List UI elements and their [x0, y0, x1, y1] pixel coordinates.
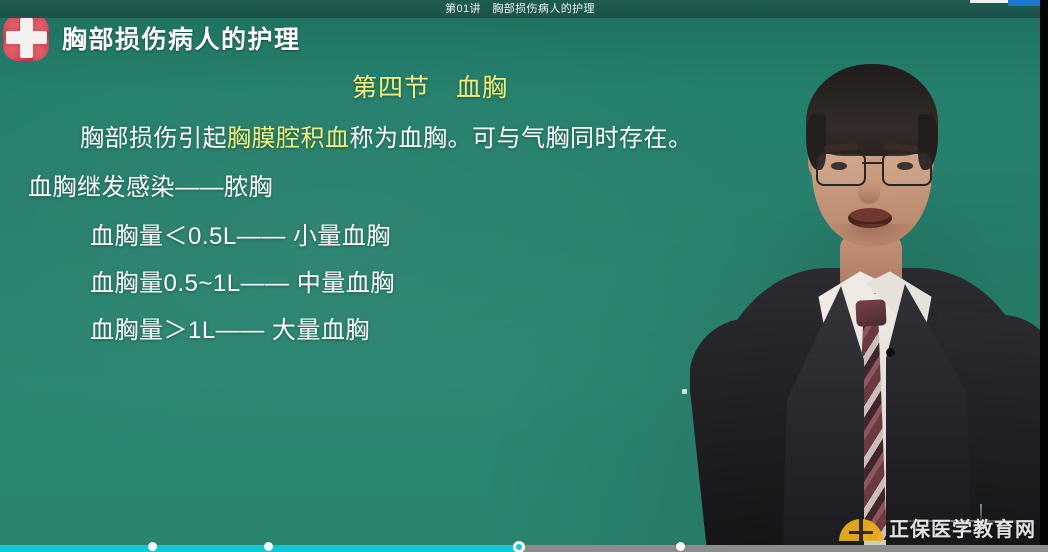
slide-content: 第四节 血胸 胸部损伤引起胸膜腔积血称为血胸。可与气胸同时存在。 血胸继发感染—…: [0, 68, 800, 357]
slide-section-title: 第四节 血胸: [0, 68, 800, 104]
slide-line-2: 血胸继发感染——脓胸: [0, 167, 800, 202]
lapel-mic-icon: [886, 348, 895, 357]
slide-line-1: 胸部损伤引起胸膜腔积血称为血胸。可与气胸同时存在。: [0, 118, 800, 153]
zhengbao-dome-logo: [839, 515, 883, 541]
video-progress-marker[interactable]: [148, 542, 157, 551]
video-player[interactable]: 第01讲 胸部损伤病人的护理 胸部损伤病人的护理 第四节 血胸 胸部损伤引起胸膜…: [0, 0, 1048, 552]
video-progress-fill: [0, 545, 519, 552]
course-header: 胸部损伤病人的护理: [0, 16, 470, 60]
lecture-topbar: 第01讲 胸部损伤病人的护理: [0, 0, 1040, 18]
red-cross-flower-logo: [0, 13, 54, 63]
video-progress-handle[interactable]: [513, 541, 525, 552]
slide-line-3: 血胸量＜0.5L—— 小量血胸: [0, 216, 800, 251]
video-progress-bar[interactable]: [0, 545, 1048, 552]
watermark-label: 正保医学教育网: [889, 513, 1036, 542]
video-stage[interactable]: 第01讲 胸部损伤病人的护理 胸部损伤病人的护理 第四节 血胸 胸部损伤引起胸膜…: [0, 0, 1040, 552]
slide-line-1-highlight: 胸膜腔积血: [227, 125, 350, 152]
slide-line-1-post: 称为血胸。可与气胸同时存在。: [350, 125, 693, 152]
topbar-white-marker: [970, 0, 1008, 3]
slide-line-1-pre: 胸部损伤引起: [80, 125, 227, 152]
page-title: 胸部损伤病人的护理: [62, 20, 301, 56]
slide-line-5: 血胸量＞1L—— 大量血胸: [0, 310, 800, 345]
slide-line-4: 血胸量0.5~1L—— 中量血胸: [0, 263, 800, 298]
lecture-topbar-label: 第01讲 胸部损伤病人的护理: [0, 0, 1040, 18]
topbar-blue-marker: [1008, 0, 1040, 6]
cursor-dot: [682, 389, 687, 394]
right-letterbox-strip: [1040, 0, 1048, 552]
watermark: 正保医学教育网: [839, 513, 1036, 542]
video-progress-marker[interactable]: [676, 542, 685, 551]
